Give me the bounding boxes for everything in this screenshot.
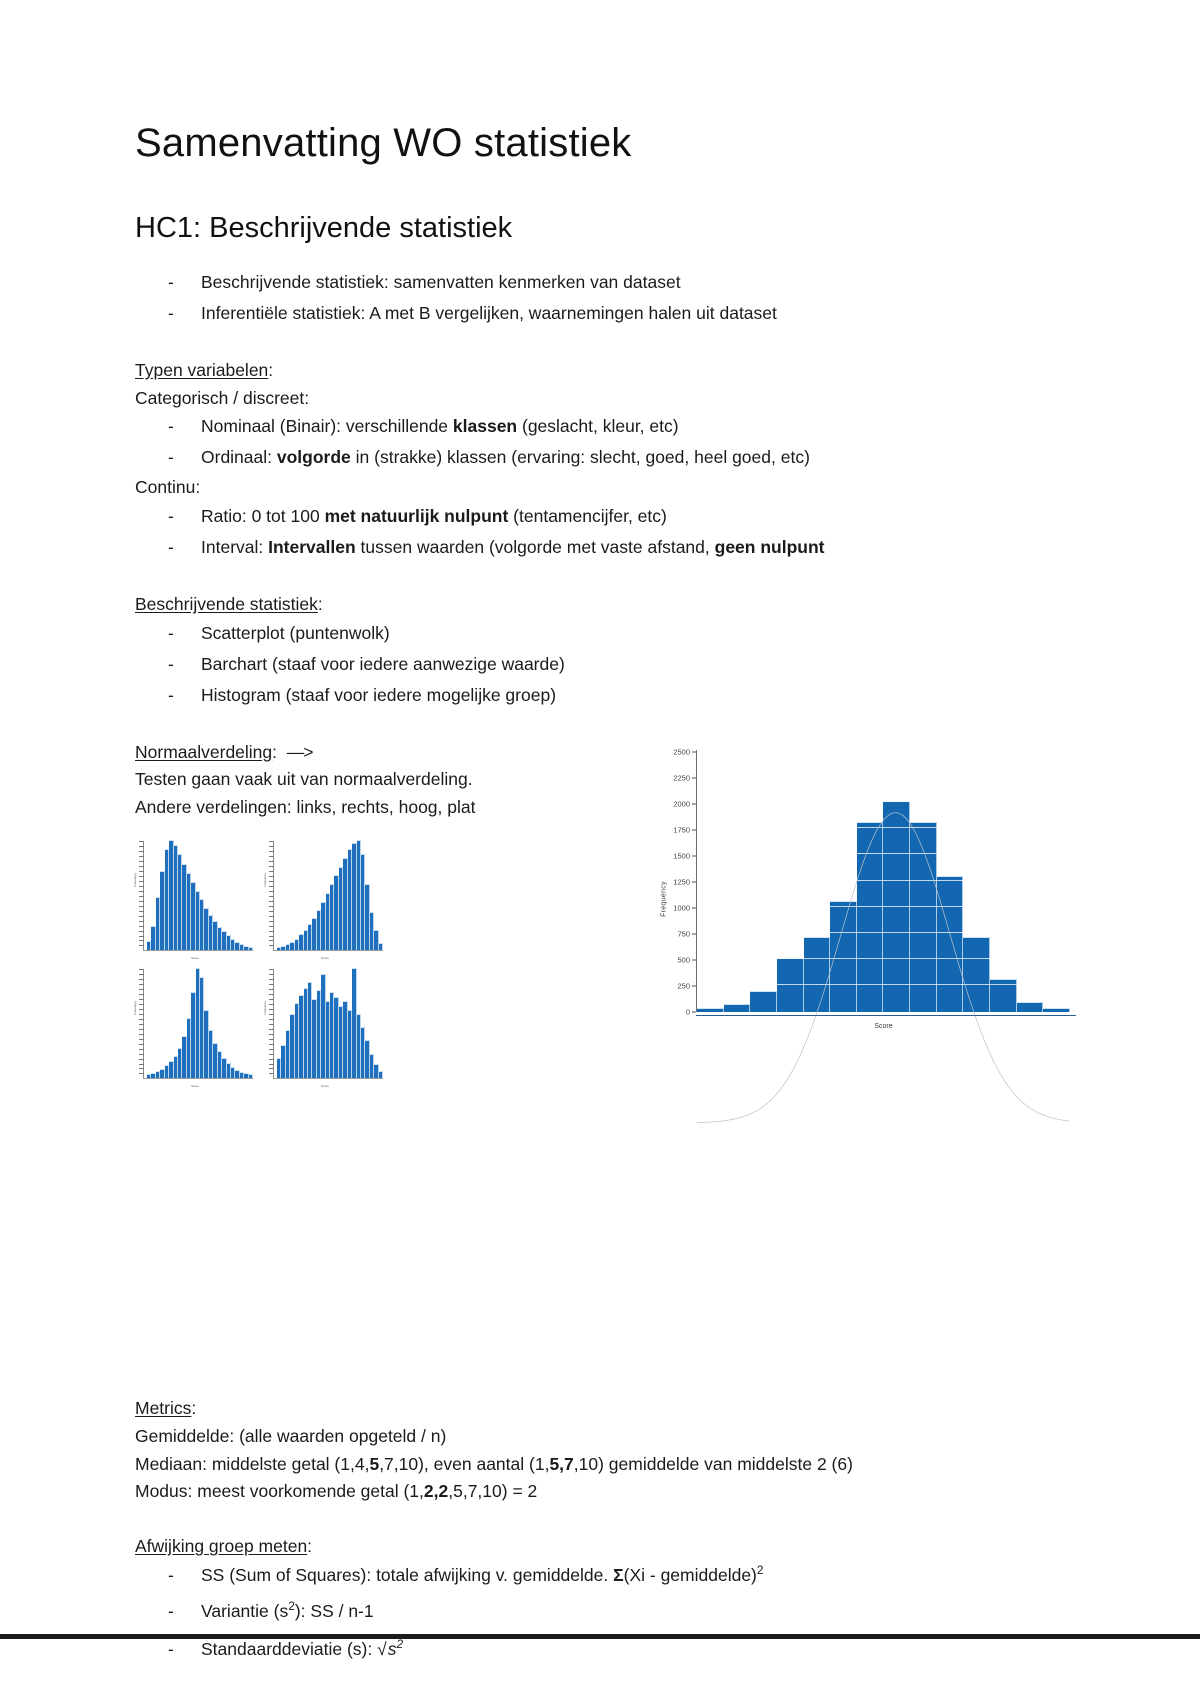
list-item-label: Histogram (staaf voor iedere mogelijke g…	[201, 685, 556, 705]
figure-spacer	[135, 1095, 1085, 1395]
radical-icon: √	[377, 1639, 387, 1659]
beschrijvende-heading-colon: :	[318, 594, 323, 614]
modus-bold1: 2,2	[424, 1481, 448, 1501]
chart-plot-area	[697, 750, 1070, 1012]
beschrijvende-statistiek-heading: Beschrijvende statistiek:	[135, 591, 1085, 619]
normaalverdeling-heading-label: Normaalverdeling	[135, 742, 272, 762]
chart-normal-curve-overlay	[697, 750, 1070, 1123]
spacer	[135, 712, 1085, 739]
bullet-dash-icon: -	[168, 443, 174, 471]
bullet-dash-icon: -	[168, 268, 174, 296]
list-item: - Variantie (s2): SS / n-1	[135, 1597, 1085, 1625]
list-item: -Inferentiële statistiek: A met B vergel…	[135, 299, 1085, 327]
mini-x-axis	[273, 950, 383, 951]
list-item: -Nominaal (Binair): verschillende klasse…	[135, 412, 1085, 440]
document-content: Samenvatting WO statistiek HC1: Beschrij…	[135, 120, 1085, 1666]
typen-variabelen-heading: Typen variabelen:	[135, 357, 1085, 385]
bullet-dash-icon: -	[168, 299, 174, 327]
afwijking-heading-label: Afwijking groep meten	[135, 1536, 307, 1556]
beschrijvende-heading-label: Beschrijvende statistiek	[135, 594, 318, 614]
mediaan-part3: ,10) gemiddelde van middelste 2 (6)	[574, 1454, 853, 1474]
bullet-dash-icon: -	[168, 502, 174, 530]
metrics-heading: Metrics:	[135, 1395, 1085, 1423]
mini-y-label: Frequency	[263, 1001, 267, 1015]
sigma-symbol: Σ	[613, 1565, 624, 1585]
mini-x-axis	[143, 950, 253, 951]
mini-y-ticks	[137, 841, 144, 951]
chart-mini-left-skewed: Frequency Score	[265, 839, 385, 959]
ratio-pre: Ratio: 0 tot 100	[201, 506, 325, 526]
mini-y-ticks	[267, 841, 274, 951]
mediaan-bold2: 5,7	[549, 1454, 573, 1474]
mediaan-part1: Mediaan: middelste getal (1,4,	[135, 1454, 369, 1474]
mediaan-bold1: 5	[369, 1454, 379, 1474]
sqrt-exponent: 2	[396, 1637, 403, 1651]
mini-bars	[147, 841, 253, 950]
bullet-dash-icon: -	[168, 412, 174, 440]
bullet-dash-icon: -	[168, 1561, 174, 1589]
chart-x-axis-label: Score	[697, 1023, 1070, 1030]
sqrt-symbol-group: √s2	[377, 1635, 404, 1663]
page-title: Samenvatting WO statistiek	[135, 120, 1085, 167]
bullet-dash-icon: -	[168, 619, 174, 647]
metrics-mediaan: Mediaan: middelste getal (1,4,5,7,10), e…	[135, 1451, 1085, 1479]
nominaal-post: (geslacht, kleur, etc)	[517, 416, 678, 436]
list-item: -Scatterplot (puntenwolk)	[135, 619, 1085, 647]
spacer	[135, 330, 1085, 357]
chart-mini-right-skewed: Frequency Score	[135, 839, 255, 959]
standaarddeviatie-pre: Standaarddeviatie (s):	[201, 1639, 377, 1659]
interval-bold: Intervallen	[268, 537, 356, 557]
chart-mini-flat: Frequency Score	[265, 967, 385, 1087]
mini-histogram-row-bottom: Frequency Score Frequency Score	[135, 967, 385, 1087]
mini-bars	[277, 841, 383, 950]
modus-part1: Modus: meest voorkomende getal (1,	[135, 1481, 424, 1501]
interval-pre: Interval:	[201, 537, 268, 557]
mini-x-axis	[273, 1078, 383, 1079]
mini-histogram-row-top: Frequency Score Frequency Score	[135, 839, 385, 959]
spacer	[135, 564, 1085, 591]
mini-x-label: Score	[265, 1084, 385, 1088]
mini-bars	[147, 969, 253, 1078]
list-item: - Standaarddeviatie (s): √s2	[135, 1635, 1085, 1663]
mini-y-label: Frequency	[133, 873, 137, 887]
ss-text: SS (Sum of Squares): totale afwijking v.…	[201, 1565, 613, 1585]
metrics-modus: Modus: meest voorkomende getal (1,2,2,5,…	[135, 1478, 1085, 1506]
interval-mid: tussen waarden (volgorde met vaste afsta…	[356, 537, 715, 557]
typen-variabelen-heading-colon: :	[268, 360, 273, 380]
document-page: Samenvatting WO statistiek HC1: Beschrij…	[0, 0, 1200, 1700]
bullet-dash-icon: -	[168, 650, 174, 678]
categorisch-label: Categorisch / discreet:	[135, 385, 1085, 413]
mini-histogram-grid: Frequency Score Frequency Score	[135, 839, 385, 1087]
ss-formula: (Xi - gemiddelde)	[624, 1565, 757, 1585]
metrics-gemiddelde: Gemiddelde: (alle waarden opgeteld / n)	[135, 1423, 1085, 1451]
categorisch-bullet-list: -Nominaal (Binair): verschillende klasse…	[135, 412, 1085, 471]
variantie-exponent: 2	[288, 1599, 295, 1613]
chart-main-normal-histogram: Frequency 025050075010001250150017502000…	[640, 744, 1080, 1054]
mediaan-part2: ,7,10), even aantal (1,	[379, 1454, 549, 1474]
ordinaal-pre: Ordinaal:	[201, 447, 277, 467]
mini-x-label: Score	[265, 956, 385, 960]
intro-bullet-list: -Beschrijvende statistiek: samenvatten k…	[135, 268, 1085, 327]
list-item: -Ratio: 0 tot 100 met natuurlijk nulpunt…	[135, 502, 1085, 530]
chart-y-tick-labels: 02505007501000125015001750200022502500	[654, 752, 696, 1012]
mini-bars	[277, 969, 383, 1078]
bullet-dash-icon: -	[168, 1597, 174, 1625]
afwijking-bullet-list: - SS (Sum of Squares): totale afwijking …	[135, 1561, 1085, 1663]
list-item-label: Scatterplot (puntenwolk)	[201, 623, 390, 643]
ordinaal-bold: volgorde	[277, 447, 351, 467]
mini-y-ticks	[267, 969, 274, 1079]
list-item: -Beschrijvende statistiek: samenvatten k…	[135, 268, 1085, 296]
nominaal-pre: Nominaal (Binair): verschillende	[201, 416, 453, 436]
bullet-dash-icon: -	[168, 681, 174, 709]
list-item: -Histogram (staaf voor iedere mogelijke …	[135, 681, 1085, 709]
list-item: -Barchart (staaf voor iedere aanwezige w…	[135, 650, 1085, 678]
list-item-label: Inferentiële statistiek: A met B vergeli…	[201, 303, 777, 323]
interval-bold2: geen nulpunt	[715, 537, 825, 557]
ratio-post: (tentamencijfer, etc)	[508, 506, 667, 526]
mini-y-label: Frequency	[263, 873, 267, 887]
section-heading-hc1: HC1: Beschrijvende statistiek	[135, 211, 1085, 246]
bullet-dash-icon: -	[168, 533, 174, 561]
mini-x-label: Score	[135, 1084, 255, 1088]
continu-label: Continu:	[135, 474, 1085, 502]
normaalverdeling-block: Normaalverdeling: —> Testen gaan vaak ui…	[135, 739, 1085, 1088]
variantie-pre: Variantie (s	[201, 1601, 288, 1621]
ordinaal-post: in (strakke) klassen (ervaring: slecht, …	[351, 447, 810, 467]
list-item: -Interval: Intervallen tussen waarden (v…	[135, 533, 1085, 561]
spacer	[135, 1506, 1085, 1533]
list-item: - SS (Sum of Squares): totale afwijking …	[135, 1561, 1085, 1589]
beschrijvende-bullet-list: -Scatterplot (puntenwolk) -Barchart (sta…	[135, 619, 1085, 709]
list-item-label: Beschrijvende statistiek: samenvatten ke…	[201, 272, 681, 292]
bullet-dash-icon: -	[168, 1635, 174, 1663]
ss-exponent: 2	[757, 1563, 764, 1577]
sqrt-radicand: s2	[387, 1638, 404, 1659]
arrow-right-icon: —>	[287, 742, 313, 762]
normaalverdeling-heading-colon: :	[272, 742, 277, 762]
typen-variabelen-heading-label: Typen variabelen	[135, 360, 268, 380]
metrics-heading-colon: :	[191, 1398, 196, 1418]
mini-y-ticks	[137, 969, 144, 1079]
metrics-heading-label: Metrics	[135, 1398, 191, 1418]
chart-mini-peaked: Frequency Score	[135, 967, 255, 1087]
mini-x-axis	[143, 1078, 253, 1079]
variantie-post: ): SS / n-1	[295, 1601, 374, 1621]
chart-x-axis-line	[696, 1015, 1076, 1016]
afwijking-heading-colon: :	[307, 1536, 312, 1556]
afwijking-heading: Afwijking groep meten:	[135, 1533, 1085, 1561]
mini-y-label: Frequency	[133, 1001, 137, 1015]
mini-x-label: Score	[135, 956, 255, 960]
list-item-label: Barchart (staaf voor iedere aanwezige wa…	[201, 654, 565, 674]
nominaal-bold: klassen	[453, 416, 517, 436]
list-item: -Ordinaal: volgorde in (strakke) klassen…	[135, 443, 1085, 471]
ratio-bold: met natuurlijk nulpunt	[325, 506, 509, 526]
chart-inner: Frequency 025050075010001250150017502000…	[640, 744, 1080, 1054]
modus-part2: ,5,7,10) = 2	[448, 1481, 537, 1501]
continu-bullet-list: -Ratio: 0 tot 100 met natuurlijk nulpunt…	[135, 502, 1085, 561]
